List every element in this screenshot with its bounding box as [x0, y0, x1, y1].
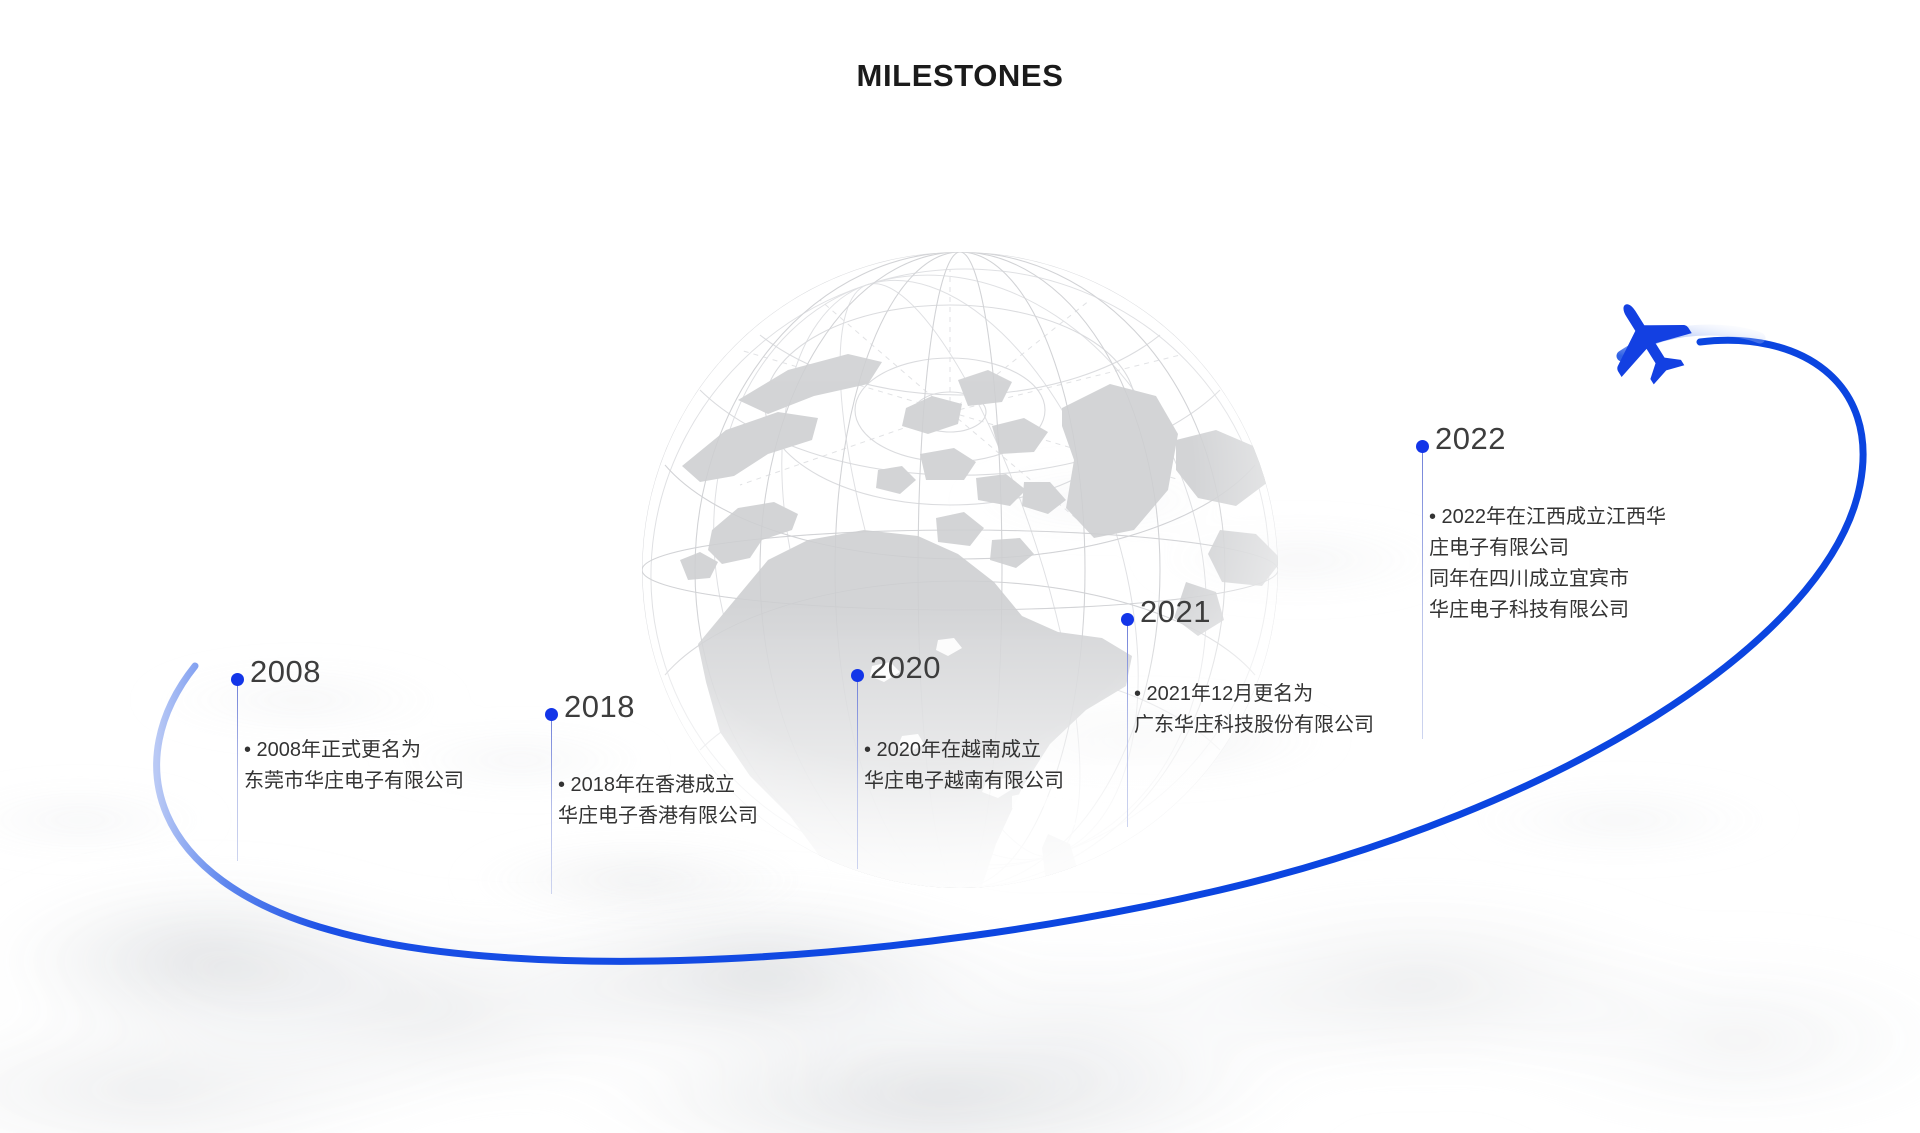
milestone-description-line: 庄电子有限公司	[1429, 533, 1666, 564]
milestone-description-line: • 2021年12月更名为	[1134, 679, 1374, 710]
milestones-infographic: MILESTONES 2008• 2008年正式更名为东莞市华庄电子有限公司20…	[0, 0, 1920, 1133]
milestone-connector-line	[1127, 619, 1128, 827]
milestone-description: • 2018年在香港成立华庄电子香港有限公司	[558, 770, 758, 832]
milestone-description: • 2020年在越南成立华庄电子越南有限公司	[864, 735, 1064, 797]
milestone-description: • 2008年正式更名为东莞市华庄电子有限公司	[244, 735, 464, 797]
milestone-description-line: 华庄电子香港有限公司	[558, 801, 758, 832]
milestone-year-label: 2008	[250, 654, 321, 690]
milestone-dot[interactable]	[1121, 613, 1134, 626]
milestone-connector-line	[551, 714, 552, 894]
milestone-connector-line	[857, 675, 858, 869]
milestone-connector-line	[1422, 446, 1423, 739]
milestone-description-line: 同年在四川成立宜宾市	[1429, 564, 1666, 595]
milestone-dot[interactable]	[1416, 440, 1429, 453]
milestone-year-label: 2022	[1435, 421, 1506, 457]
milestone-description-line: • 2020年在越南成立	[864, 735, 1064, 766]
milestone-description-line: 东莞市华庄电子有限公司	[244, 766, 464, 797]
milestone-description-line: 广东华庄科技股份有限公司	[1134, 710, 1374, 741]
milestone-description-line: • 2022年在江西成立江西华	[1429, 502, 1666, 533]
milestone-dot[interactable]	[851, 669, 864, 682]
milestone-description-line: 华庄电子科技有限公司	[1429, 595, 1666, 626]
milestone-description-line: • 2018年在香港成立	[558, 770, 758, 801]
milestone-description: • 2021年12月更名为广东华庄科技股份有限公司	[1134, 679, 1374, 741]
milestone-description-line: • 2008年正式更名为	[244, 735, 464, 766]
milestone-year-label: 2020	[870, 650, 941, 686]
milestone-dot[interactable]	[545, 708, 558, 721]
milestone-connector-line	[237, 679, 238, 861]
milestone-year-label: 2021	[1140, 594, 1211, 630]
page-title: MILESTONES	[0, 58, 1920, 94]
milestone-description-line: 华庄电子越南有限公司	[864, 766, 1064, 797]
milestone-description: • 2022年在江西成立江西华庄电子有限公司同年在四川成立宜宾市华庄电子科技有限…	[1429, 502, 1666, 626]
milestone-dot[interactable]	[231, 673, 244, 686]
milestone-year-label: 2018	[564, 689, 635, 725]
airplane-icon	[1590, 283, 1704, 397]
